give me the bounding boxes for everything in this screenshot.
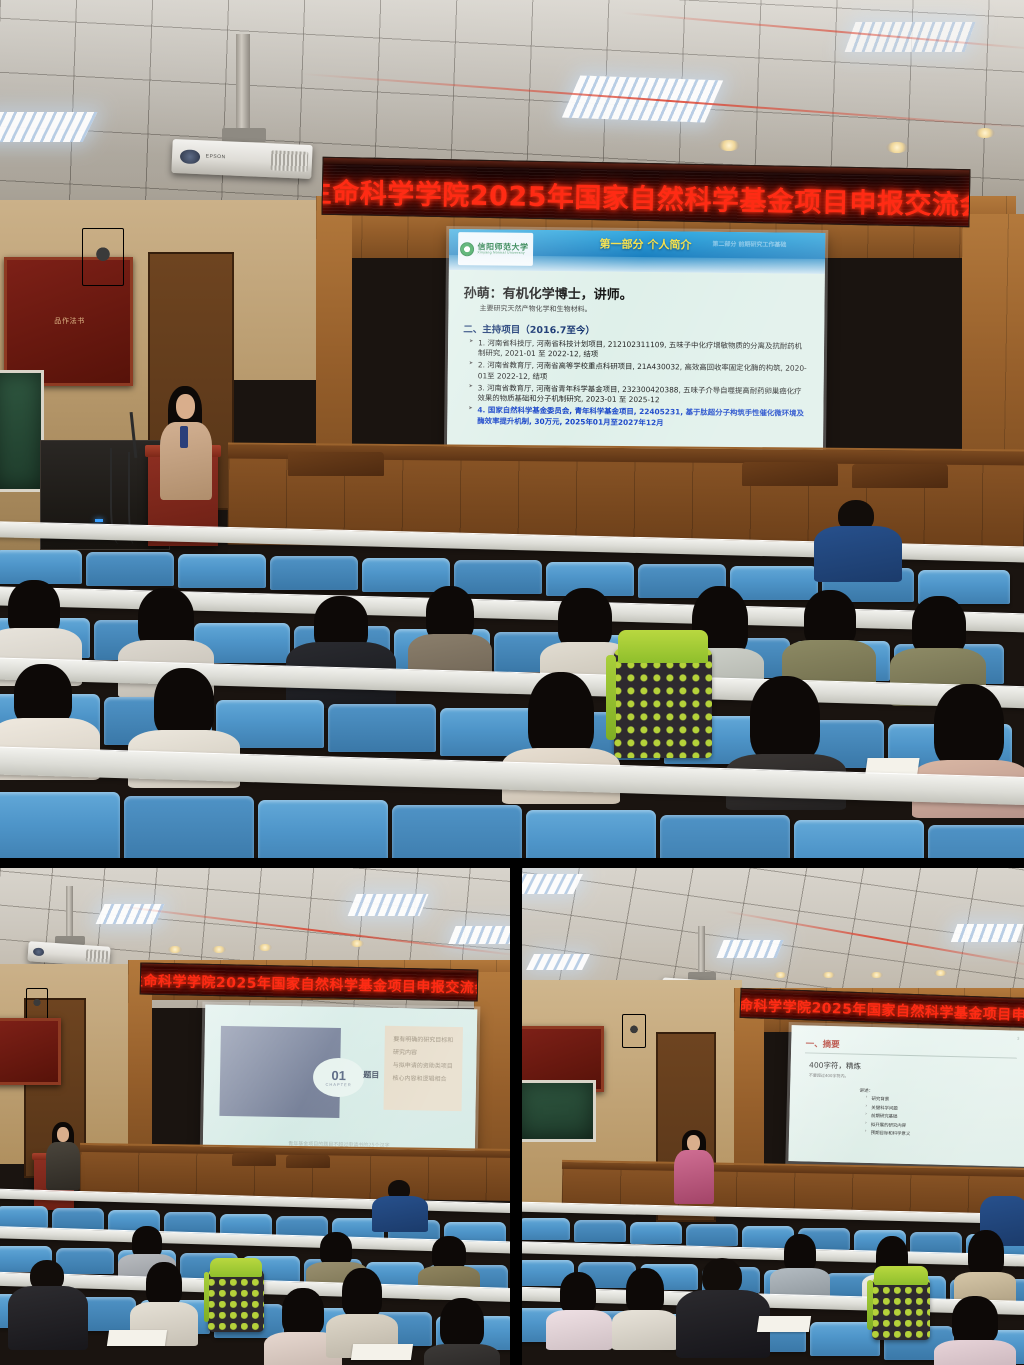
speaker-presenter (672, 1130, 716, 1210)
projector-bracket (222, 128, 266, 142)
backpack-flap (618, 630, 708, 663)
audience-member (612, 1268, 678, 1346)
photo-bottom-left: 生命科学学院2025年国家自然科学基金项目申报交流会 01 CHAPTER 题目… (0, 868, 510, 1365)
audience-member (546, 1272, 612, 1346)
projection-screen: 3 一、摘要 400字符，精炼 不要超过400字符内。 讲述： 研究背景 关键科… (788, 1025, 1024, 1167)
notebook (757, 1316, 811, 1332)
speaker-jacket (674, 1150, 714, 1204)
slide-project-item: 3. 河南省教育厅, 河南省青年科学基金项目, 232300420388, 五味… (468, 383, 808, 408)
ceiling-panel-light (522, 874, 583, 894)
stage-chair[interactable] (232, 1153, 276, 1166)
audience-member (372, 1180, 428, 1230)
audience-body (814, 526, 902, 582)
audience-body (934, 1340, 1016, 1365)
audience-hair (560, 1272, 596, 1314)
slide-note-line: 核心内容和逻辑相合 (393, 1075, 454, 1084)
seat[interactable] (522, 1218, 570, 1240)
audience-hair (282, 1288, 324, 1336)
projector-mount-pole (236, 34, 250, 134)
projector-mount-pole (698, 926, 705, 976)
slide-abstract: 3 一、摘要 400字符，精炼 不要超过400字符内。 讲述： 研究背景 关键科… (788, 1025, 1024, 1167)
speaker-face (687, 1135, 700, 1151)
audience-hair (952, 1296, 998, 1344)
ceiling-panel-light (951, 924, 1024, 942)
audience-member (954, 1230, 1016, 1298)
audience-body (676, 1290, 770, 1358)
stage-chair[interactable] (288, 452, 384, 476)
speaker-presenter (44, 1122, 84, 1198)
led-banner-text: 生命科学学院2025年国家自然科学基金项目申报交流会 (322, 170, 971, 222)
ceiling-downlight (350, 940, 364, 947)
university-name-en: Xinyang Normal University (477, 252, 528, 256)
backpack-strap (204, 1272, 210, 1322)
slide-section-title: 二、主持项目（2016.7至今） (463, 321, 809, 339)
university-logo-mark (460, 242, 474, 256)
audience-hair (968, 1230, 1004, 1276)
audience-body (546, 1310, 612, 1350)
seat[interactable] (526, 810, 656, 860)
audience-hair (934, 684, 1004, 768)
slide-header: 信阳师范大学 Xinyang Normal University 第一部分 个人… (449, 229, 825, 274)
audience-hair (750, 676, 820, 762)
slide-page-number: 3 (1017, 1036, 1019, 1041)
slide-project-item: 2. 河南省教育厅, 河南省高等学校重点科研项目, 21A430032, 高效高… (469, 360, 809, 385)
calligraphy-plaque (0, 1018, 61, 1085)
seat[interactable] (124, 796, 254, 860)
seat[interactable] (0, 1206, 48, 1228)
projector-vent (271, 151, 308, 172)
seat[interactable] (86, 552, 174, 586)
audience-hair (432, 1236, 466, 1270)
audience-body (8, 1286, 88, 1350)
seat[interactable] (574, 1220, 626, 1242)
ceiling-downlight (870, 972, 883, 978)
backpack-strap (867, 1280, 873, 1330)
audience-hair (912, 596, 966, 656)
audience-hair (440, 1298, 484, 1348)
audience-member (424, 1298, 500, 1365)
slide-project-item: 1. 河南省科技厅, 河南省科技计划项目, 212102311109, 五味子中… (469, 338, 809, 363)
slide-chapter-number: 01 (331, 1068, 346, 1081)
audience-member (770, 1234, 830, 1296)
seat[interactable] (258, 800, 388, 860)
ceiling-panel-light (0, 112, 97, 142)
backpack (614, 648, 712, 758)
slide-chapter: 01 CHAPTER 题目 要有明确的研究目标和 研究内容 与拟申请的资助类项目… (203, 1005, 478, 1160)
backpack-flap (210, 1258, 262, 1277)
slide-heading: 一、摘要 (805, 1037, 1016, 1054)
seat[interactable] (630, 1222, 682, 1244)
ceiling-panel-light (448, 926, 510, 944)
audience-hair (146, 1262, 182, 1306)
audience-hair (154, 668, 214, 738)
projection-screen: 01 CHAPTER 题目 要有明确的研究目标和 研究内容 与拟申请的资助类项目… (203, 1005, 478, 1160)
seat[interactable] (270, 556, 358, 590)
seat[interactable] (328, 704, 436, 752)
notebook (107, 1330, 167, 1346)
seat[interactable] (178, 554, 266, 588)
speaker-face (57, 1127, 69, 1142)
chalkboard (0, 370, 44, 492)
audience-hair (14, 664, 72, 726)
projector-lens (33, 947, 45, 957)
ceiling-downlight (822, 972, 835, 978)
audience-member (812, 500, 904, 578)
chalkboard (522, 1080, 596, 1142)
ceiling-panel-light (526, 954, 590, 970)
slide-presenter-sub: 主要研究天然产物化学和生物材料。 (479, 303, 809, 316)
audience-hair (626, 1268, 664, 1314)
ceiling-panel-light (716, 940, 783, 958)
wall-speaker (82, 228, 124, 286)
photo-collage: EPSON 生命科学学院2025年国家自然科学基金项目申报交流会 书法作品 (0, 0, 1024, 1365)
slide-project-item-highlighted: 4. 国家自然科学基金委员会, 青年科学基金项目, 22405231, 基于肽超… (468, 405, 808, 430)
photo-main: EPSON 生命科学学院2025年国家自然科学基金项目申报交流会 书法作品 (0, 0, 1024, 860)
slide-presenter-line: 孙萌：有机化学博士，讲师。 (464, 282, 810, 305)
slide-bullet: 预期目标和科学意义 (865, 1130, 1015, 1140)
seat[interactable] (392, 805, 522, 860)
audience-hair (342, 1268, 382, 1318)
seat[interactable] (0, 792, 120, 860)
projector-lens (180, 149, 200, 165)
audience-body (424, 1344, 500, 1365)
stage-chair[interactable] (852, 464, 948, 488)
university-logo: 信阳师范大学 Xinyang Normal University (458, 232, 533, 266)
seat[interactable] (0, 550, 82, 584)
slide-note-line: 要有明确的研究目标和 (393, 1036, 454, 1045)
audience-hair (528, 672, 594, 758)
slide-chapter-caption: CHAPTER (325, 1081, 351, 1086)
seat[interactable] (686, 1224, 738, 1246)
audience-body (372, 1196, 428, 1232)
ceiling-downlight (774, 972, 787, 978)
led-banner-text: 生命科学学院2025年国家自然科学基金项目申报交流会 (140, 970, 479, 998)
stage-chair[interactable] (286, 1155, 330, 1168)
backpack-flap (874, 1266, 927, 1285)
slide-note-box: 要有明确的研究目标和 研究内容 与拟申请的资助类项目 核心内容和逻辑相合 (383, 1026, 463, 1111)
ceiling-downlight (886, 142, 908, 153)
slide-tab-active: 第一部分 个人简介 (599, 235, 691, 252)
audience-member (676, 1258, 770, 1354)
notebook (351, 1344, 413, 1360)
led-banner: 生命科学学院2025年国家自然科学基金项目申报交流会 (322, 157, 971, 227)
audience-member (8, 1260, 88, 1350)
ceiling-downlight (258, 944, 272, 951)
ceiling-panel-light (348, 894, 429, 916)
projector-mount-pole (66, 886, 73, 940)
audience-member (408, 586, 492, 676)
speaker-badge-lanyard (180, 426, 188, 448)
seat[interactable] (660, 815, 790, 860)
seat[interactable] (794, 820, 924, 860)
rack-status-led (95, 519, 103, 522)
audience-hair (558, 588, 612, 650)
backpack (208, 1268, 264, 1332)
speaker-face (176, 394, 195, 419)
audience-body (612, 1310, 678, 1350)
ceiling-downlight (718, 140, 740, 151)
slide-tab-inactive: 第二部分 前期研究工作基础 (712, 238, 786, 248)
slide-chapter-circle: 01 CHAPTER (313, 1058, 365, 1098)
audience-member (326, 1268, 398, 1352)
speaker-jacket (46, 1142, 80, 1190)
collage-gutter-vertical (510, 864, 522, 1365)
slide-note-line: 与拟申请的资助类项目 (393, 1062, 454, 1071)
projector-brand-label: EPSON (206, 153, 226, 160)
speaker-presenter (152, 386, 220, 526)
ceiling-downlight (975, 128, 995, 138)
ceiling-downlight (212, 946, 226, 953)
audience-hair (784, 1234, 816, 1272)
wall-speaker (622, 1014, 646, 1048)
seat[interactable] (52, 1208, 104, 1230)
calligraphy-plaque-text: 书法作品 (53, 317, 84, 325)
backpack (872, 1276, 930, 1340)
slide-note-line: 研究内容 (393, 1049, 454, 1058)
audience-hair (320, 1232, 352, 1266)
audience-member (934, 1296, 1016, 1365)
wall-speaker (26, 988, 48, 1020)
slide-chapter-title: 题目 (363, 1069, 379, 1080)
projection-screen: 信阳师范大学 Xinyang Normal University 第一部分 个人… (447, 229, 826, 477)
projector-epson: EPSON (171, 139, 312, 179)
projector-vent (86, 950, 108, 963)
photo-bottom-right: 生命科学学院2025年国家自然科学基金项目申报交 3 一、摘要 400字符，精炼… (522, 868, 1024, 1365)
seat[interactable] (928, 825, 1024, 860)
stage-chair[interactable] (742, 462, 838, 486)
ceiling-downlight (934, 970, 947, 976)
ceiling-downlight (168, 946, 182, 953)
